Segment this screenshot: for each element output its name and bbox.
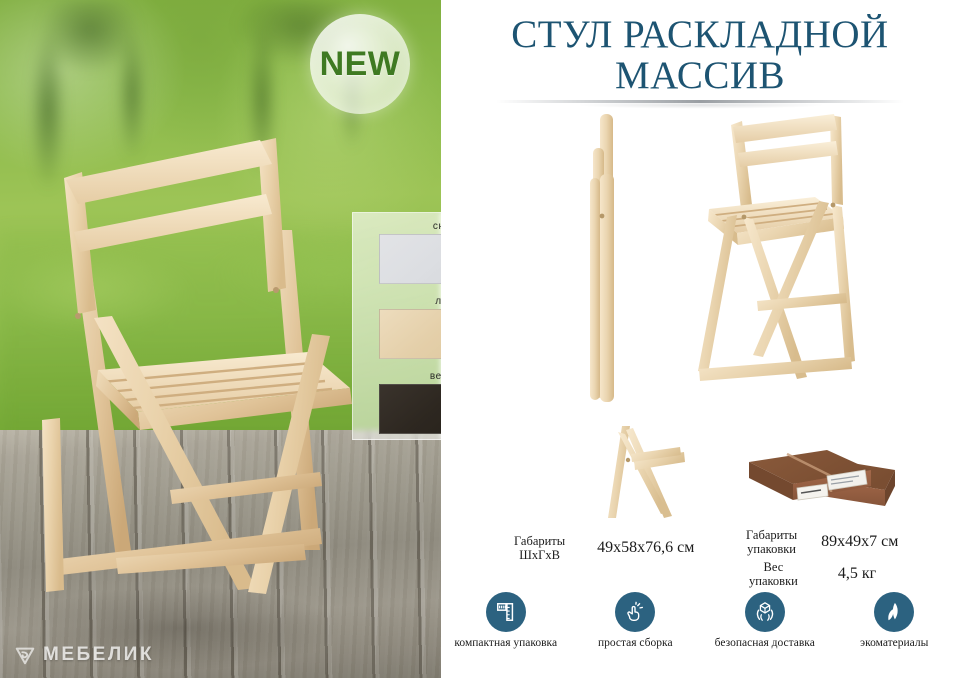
leaf-icon [883, 601, 905, 623]
new-badge: NEW [310, 14, 410, 114]
hand-click-icon-circle [615, 592, 655, 632]
hand-click-icon [624, 601, 646, 623]
feature-compact-packaging: компактная упаковка [441, 592, 571, 670]
spec-package-weight: Вес упаковки 4,5 кг [749, 560, 876, 588]
spec-label-line1: Вес [749, 560, 798, 574]
feature-safe-delivery: безопасная доставка [700, 592, 830, 670]
leaf-icon-circle [874, 592, 914, 632]
spec-label-line1: Габариты [746, 528, 797, 542]
feature-badges-row: компактная упаковка простая сборка [441, 592, 959, 670]
info-panel: СТУЛ РАСКЛАДНОЙ МАССИВ [441, 0, 959, 678]
ruler-icon [495, 601, 517, 623]
feature-label-eco-materials: экоматериалы [860, 637, 928, 649]
unfolded-chair-render [691, 105, 886, 415]
title-line-1: СТУЛ РАСКЛАДНОЙ [441, 14, 959, 55]
spec-label-line2: ШхГхВ [514, 548, 565, 562]
spec-chair-dimensions-value: 49x58x76,6 см [597, 539, 694, 557]
title-line-2: МАССИВ [441, 55, 959, 96]
chair-illustration [20, 120, 400, 620]
hands-holding-box-icon-circle [745, 592, 785, 632]
ruler-icon-circle [486, 592, 526, 632]
main-chair-photo [20, 120, 400, 620]
brand-name: МЕБЕЛИК [43, 644, 154, 666]
feature-label-compact-packaging: компактная упаковка [454, 637, 557, 649]
folded-chair-vertical-view [576, 112, 646, 417]
spec-package-weight-label: Вес упаковки [749, 560, 798, 588]
spec-label-line2: упаковки [749, 574, 798, 588]
product-infographic: NEW МЕБЕЛИК снег лак венге СТУЛ РАСКЛАДН [0, 0, 959, 678]
feature-label-easy-assembly: простая сборка [598, 637, 673, 649]
spec-package-weight-value: 4,5 кг [838, 565, 876, 583]
feature-eco-materials: экоматериалы [830, 592, 959, 670]
new-badge-label: NEW [320, 45, 401, 84]
brand-logo: МЕБЕЛИК [14, 644, 154, 666]
spec-chair-dimensions-label: Габариты ШхГхВ [514, 534, 565, 562]
spec-label-line2: упаковки [746, 542, 797, 556]
feature-label-safe-delivery: безопасная доставка [715, 637, 815, 649]
spec-chair-dimensions: Габариты ШхГхВ 49x58x76,6 см [514, 534, 694, 562]
spec-label-line1: Габариты [514, 534, 565, 548]
packaging-box [735, 440, 905, 526]
spec-package-dimensions-label: Габариты упаковки [746, 528, 797, 556]
spec-package-dimensions-value: 89x49x7 см [821, 533, 898, 551]
spec-package-dimensions: Габариты упаковки 89x49x7 см [746, 528, 898, 556]
page-title: СТУЛ РАСКЛАДНОЙ МАССИВ [441, 14, 959, 96]
feature-easy-assembly: простая сборка [571, 592, 701, 670]
mebelik-triangle-swirl-icon [14, 644, 36, 666]
folded-chair-side-view [596, 420, 706, 525]
hands-holding-box-icon [754, 601, 776, 623]
